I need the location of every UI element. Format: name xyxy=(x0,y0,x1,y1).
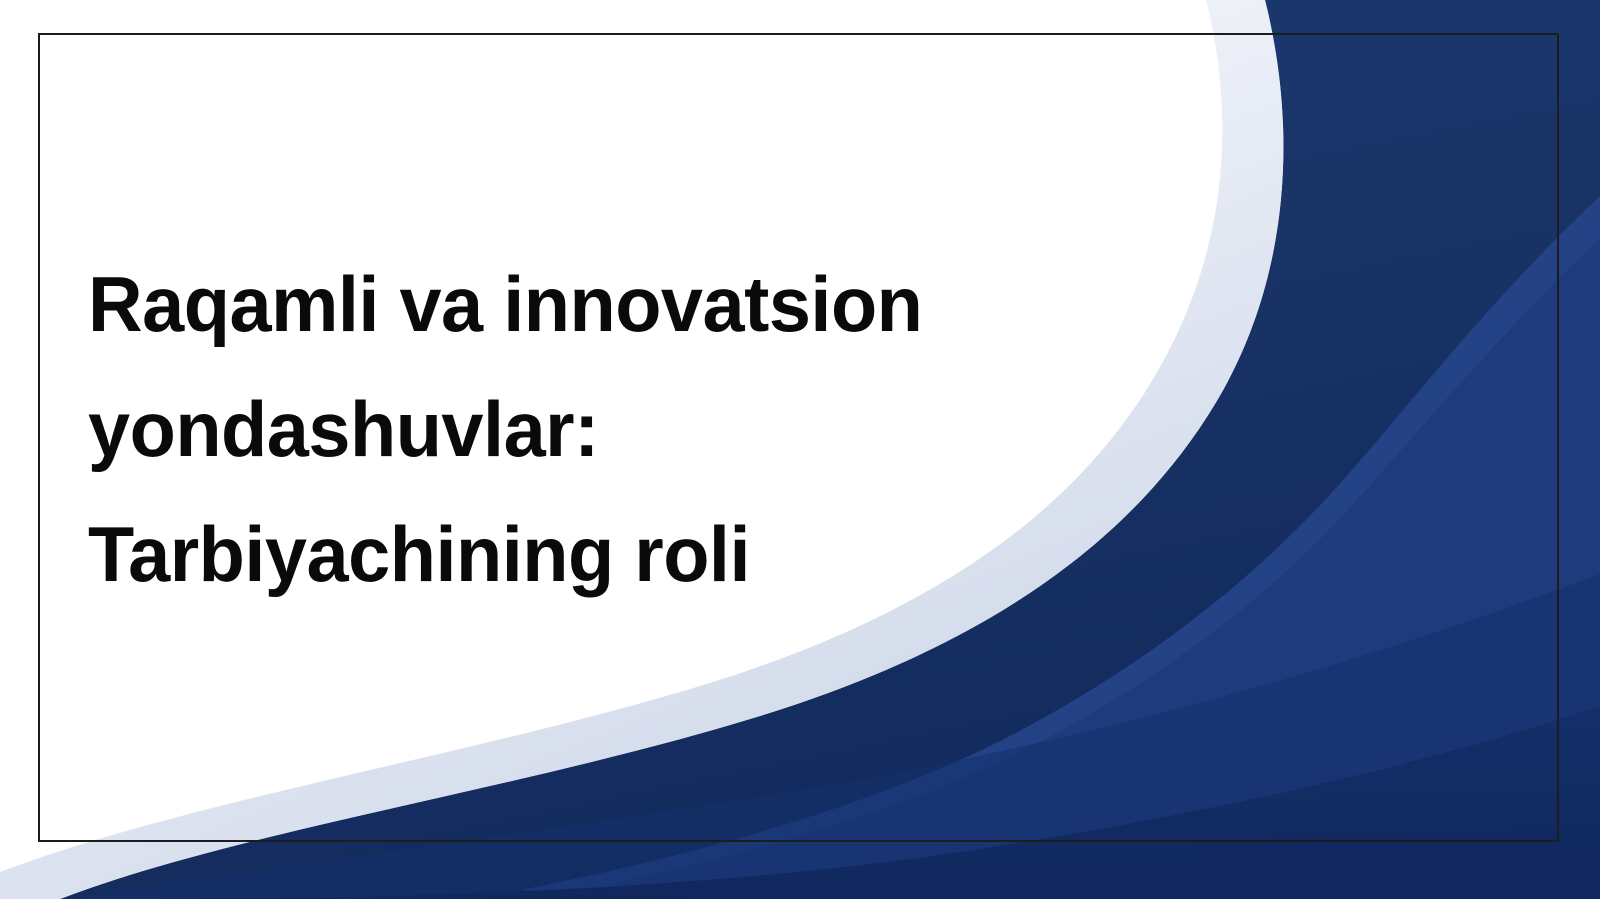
presentation-slide: Raqamli va innovatsion yondashuvlar: Tar… xyxy=(0,0,1600,899)
wave-layer-bottom-tail xyxy=(72,574,1600,899)
title-line-3: Tarbiyachining roli xyxy=(88,492,1077,617)
slide-title: Raqamli va innovatsion yondashuvlar: Tar… xyxy=(88,242,1108,617)
wave-layer-bottom-dark xyxy=(150,706,1600,899)
title-line-1: Raqamli va innovatsion xyxy=(88,242,1077,367)
title-line-2: yondashuvlar: xyxy=(88,367,1077,492)
